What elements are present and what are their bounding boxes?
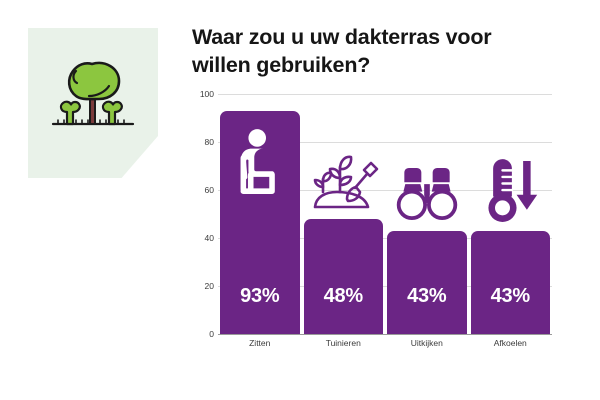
bar-slot-afkoelen: 43% [469, 94, 553, 334]
page-title: Waar zou u uw dakterras voor willen gebr… [192, 24, 552, 79]
x-label-tuinieren: Tuinieren [302, 338, 386, 348]
tree-icon [45, 54, 141, 140]
bar-value-uitkijken: 43% [387, 285, 467, 308]
x-label-uitkijken: Uitkijken [385, 338, 469, 348]
bar-afkoelen[interactable]: 43% [471, 231, 551, 334]
y-tick-60: 60 [205, 185, 214, 195]
bar-uitkijken[interactable]: 43% [387, 231, 467, 334]
x-label-afkoelen: Afkoelen [469, 338, 553, 348]
bar-value-tuinieren: 48% [304, 285, 384, 308]
bar-chart: 0 20 40 60 80 100 [192, 94, 552, 358]
bar-tuinieren[interactable]: 48% [304, 219, 384, 334]
bar-slot-uitkijken: 43% [385, 94, 469, 334]
seated-person-icon [235, 129, 285, 201]
bar-slot-tuinieren: 48% [302, 94, 386, 334]
y-tick-40: 40 [205, 233, 214, 243]
x-axis: Zitten Tuinieren Uitkijken Afkoelen [218, 338, 552, 356]
binoculars-icon [393, 167, 461, 227]
y-tick-80: 80 [205, 137, 214, 147]
y-axis: 0 20 40 60 80 100 [192, 94, 218, 334]
gardening-plants-shovel-icon [307, 151, 379, 218]
y-tick-0: 0 [209, 329, 214, 339]
y-tick-20: 20 [205, 281, 214, 291]
thermometer-down-arrow-icon [480, 159, 540, 228]
logo-card [28, 28, 158, 178]
axis-baseline [218, 334, 552, 335]
bar-value-afkoelen: 43% [471, 285, 551, 308]
bar-zitten[interactable]: 93% [220, 111, 300, 334]
y-tick-100: 100 [200, 89, 214, 99]
bar-series: 93% [218, 94, 552, 334]
bar-slot-zitten: 93% [218, 94, 302, 334]
bar-value-zitten: 93% [220, 285, 300, 308]
x-label-zitten: Zitten [218, 338, 302, 348]
